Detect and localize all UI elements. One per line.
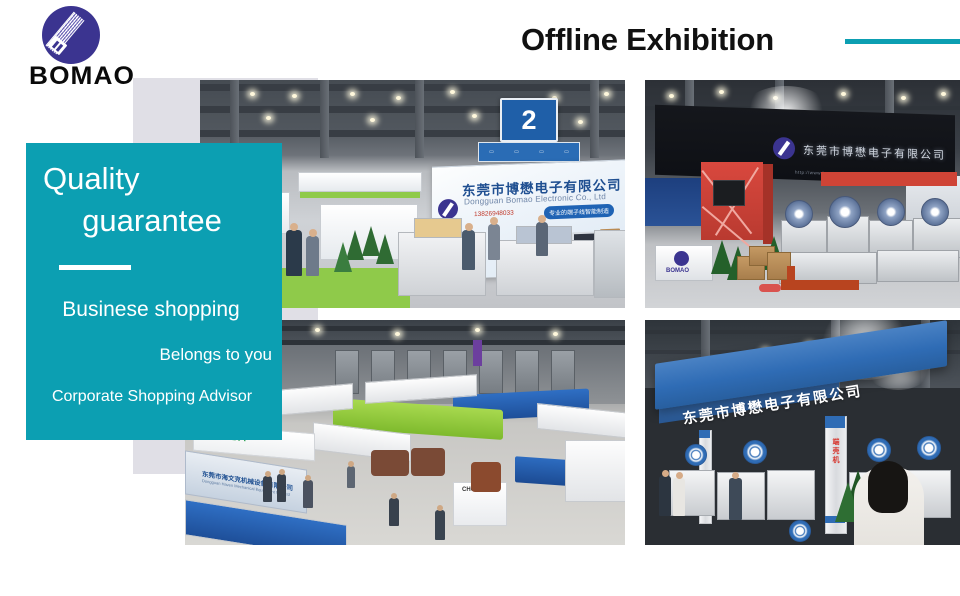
visitor-figure xyxy=(462,230,475,270)
title-rule-icon xyxy=(845,39,960,44)
ceiling-column xyxy=(320,80,329,158)
exhibit-object xyxy=(411,448,445,476)
pillar-accent xyxy=(699,430,710,438)
visitor-figure xyxy=(673,478,685,516)
callout-line-5: Corporate Shopping Advisor xyxy=(26,388,282,406)
pallet-jack-handle xyxy=(787,266,795,288)
foreground-person-hair xyxy=(868,461,908,513)
red-wall-side xyxy=(763,164,773,244)
visitor-figure xyxy=(488,224,500,260)
visitor-figure xyxy=(435,510,445,540)
machine-base xyxy=(877,250,959,282)
visitor-figure xyxy=(536,222,548,256)
quality-guarantee-callout: Quality guarantee Businese shopping Belo… xyxy=(26,143,282,440)
exhibit-machine xyxy=(594,230,625,298)
callout-line-4: Belongs to you xyxy=(26,345,282,365)
visitor-figure xyxy=(303,480,313,508)
booth-company-cn: 东莞市博懋电子有限公司 xyxy=(803,142,946,163)
booth-emblem-icon xyxy=(685,444,707,466)
callout-divider-icon xyxy=(59,265,131,270)
pillar-label-cn: 端壳机 xyxy=(830,438,840,465)
exhibit-object xyxy=(371,450,409,476)
info-cell: ▭ xyxy=(489,149,494,155)
counter-wordmark: BOMAO xyxy=(666,268,689,274)
callout-line-2: guarantee xyxy=(26,203,282,239)
reception-counter: BOMAO xyxy=(655,245,713,281)
callout-line-3: Businese shopping xyxy=(26,298,282,322)
banner-badge: 专业的端子线智能制造 xyxy=(544,204,614,220)
booth-structure xyxy=(565,440,625,502)
photo-top-right: 东莞市博懋电子有限公司 http://www.bomao.com BOMAO xyxy=(645,80,960,308)
visitor-figure xyxy=(389,498,399,526)
pallet-jack-wheel xyxy=(759,284,781,292)
visitor-figure xyxy=(306,236,319,276)
exhibit-machine xyxy=(767,470,815,520)
visitor-figure xyxy=(286,230,302,276)
booth-emblem-icon xyxy=(789,520,811,542)
red-overhead-beam xyxy=(821,172,957,186)
visitor-figure xyxy=(277,474,286,502)
neighbor-booth-left xyxy=(645,178,701,226)
visitor-figure xyxy=(729,478,742,520)
exhibit-object xyxy=(471,462,501,492)
ceiling-beam xyxy=(200,84,625,91)
page-title: Offline Exhibition xyxy=(521,22,774,58)
hall-info-strip: ▭ ▭ ▭ ▭ xyxy=(478,142,580,162)
decorative-plant-icon xyxy=(376,234,394,264)
booth-emblem-icon xyxy=(867,438,891,462)
background-booth-board xyxy=(298,172,422,192)
visitor-figure xyxy=(263,476,272,502)
info-cell: ▭ xyxy=(564,149,569,155)
bomao-logo-icon xyxy=(438,199,458,220)
brand-logo: BOMAO xyxy=(26,6,138,86)
ceiling-column xyxy=(415,80,424,158)
callout-line-1: Quality xyxy=(43,161,139,197)
hall-number-sign: 2 xyxy=(500,98,558,142)
decorative-plant-icon xyxy=(334,242,352,272)
hanging-banner xyxy=(473,340,482,366)
wall-display-screen xyxy=(713,180,745,206)
exhibit-machine-top xyxy=(414,218,462,238)
booth-emblem-icon xyxy=(743,440,767,464)
bomao-logo-icon xyxy=(773,137,795,160)
brand-wordmark: BOMAO xyxy=(23,62,141,91)
info-cell: ▭ xyxy=(514,149,519,155)
visitor-figure xyxy=(659,476,671,516)
visitor-figure xyxy=(347,466,355,488)
bomao-logo-icon xyxy=(674,251,689,266)
photo-bottom-right: 东莞市博懋电子有限公司 端壳机 xyxy=(645,320,960,545)
ceiling-beam xyxy=(200,130,625,137)
ceiling-beam xyxy=(200,106,625,113)
pillar-accent xyxy=(825,416,845,428)
bomao-cable-connector-logo-icon xyxy=(42,6,100,64)
booth-emblem-icon xyxy=(917,436,941,460)
info-cell: ▭ xyxy=(539,149,544,155)
ceiling-column xyxy=(590,80,599,158)
machine-row xyxy=(781,200,960,256)
